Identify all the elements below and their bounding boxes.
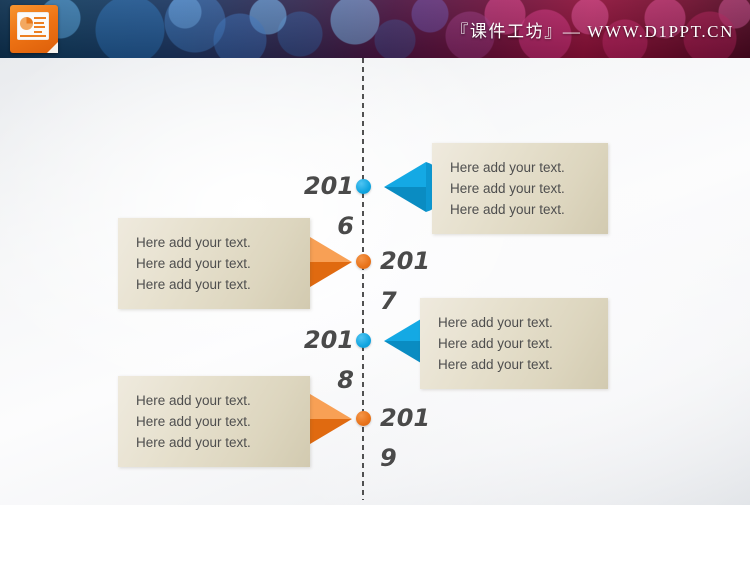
powerpoint-logo-icon [10, 5, 58, 53]
header-title: 『课件工坊』— WWW.D1PPT.CN [451, 0, 734, 58]
timeline-textbox: Here add your text. Here add your text. … [118, 376, 310, 467]
logo-lines-icon [34, 17, 46, 35]
pie-chart-icon [20, 17, 33, 30]
textbox-line: Here add your text. [136, 411, 294, 432]
textbox-line: Here add your text. [136, 232, 294, 253]
slide-header: 『课件工坊』— WWW.D1PPT.CN [0, 0, 750, 58]
logo-baseline [20, 35, 46, 37]
timeline-textbox: Here add your text. Here add your text. … [118, 218, 310, 309]
textbox-line: Here add your text. [438, 333, 592, 354]
timeline-axis [362, 58, 364, 500]
timeline-year-label: 2019 [380, 398, 436, 478]
timeline-node-dot[interactable] [356, 411, 371, 426]
textbox-line: Here add your text. [438, 354, 592, 375]
timeline-node-dot[interactable] [356, 254, 371, 269]
timeline-textbox: Here add your text. Here add your text. … [420, 298, 608, 389]
textbox-line: Here add your text. [136, 253, 294, 274]
textbox-line: Here add your text. [450, 199, 592, 220]
slide-canvas: 2016 Here add your text. Here add your t… [0, 58, 750, 505]
textbox-line: Here add your text. [450, 178, 592, 199]
textbox-line: Here add your text. [136, 274, 294, 295]
logo-document-icon [17, 12, 49, 40]
textbox-line: Here add your text. [450, 157, 592, 178]
timeline-textbox: Here add your text. Here add your text. … [432, 143, 608, 234]
timeline-node-dot[interactable] [356, 333, 371, 348]
textbox-line: Here add your text. [136, 432, 294, 453]
timeline-node-dot[interactable] [356, 179, 371, 194]
textbox-line: Here add your text. [438, 312, 592, 333]
slide-footer: 课件工坊 HTTP://WWW.D1PPT.CN [0, 505, 750, 563]
textbox-line: Here add your text. [136, 390, 294, 411]
